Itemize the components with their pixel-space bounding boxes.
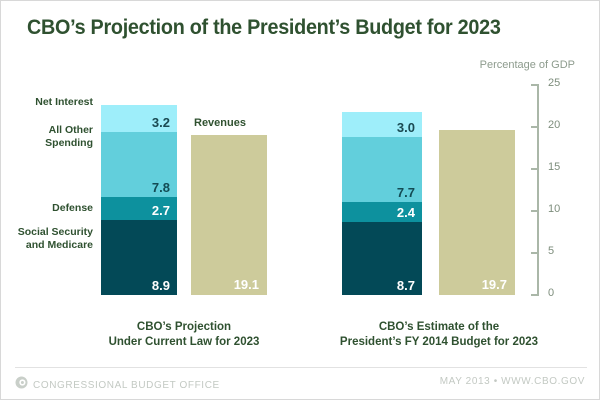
footer-branding: CONGRESSIONAL BUDGET OFFICE <box>15 376 220 394</box>
y-axis-line <box>537 84 539 296</box>
segment-social-security-and-medicare[interactable]: 8.9 <box>101 220 177 295</box>
segment-value-net-interest: 3.0 <box>397 121 415 134</box>
segment-all-other-spending[interactable]: 7.8 <box>101 132 177 197</box>
segment-net-interest[interactable]: 3.0 <box>342 112 422 137</box>
group-caption-presidents-budget: CBO’s Estimate of the President’s FY 201… <box>319 320 559 350</box>
axis-caption: Percentage of GDP <box>480 59 575 71</box>
y-tick-label-5: 5 <box>548 245 554 257</box>
stacked-bar-presidents-budget[interactable]: 3.0 7.7 2.4 8.7 <box>342 112 422 295</box>
y-tick-label-20: 20 <box>548 119 560 131</box>
segment-social-security-and-medicare[interactable]: 8.7 <box>342 222 422 295</box>
footer-organization: CONGRESSIONAL BUDGET OFFICE <box>33 380 220 391</box>
y-tick-label-15: 15 <box>548 161 560 173</box>
revenues-label-left: Revenues <box>194 117 246 129</box>
revenues-bar-current-law[interactable]: 19.1 <box>191 135 267 295</box>
revenues-value-presidents-budget: 19.7 <box>482 278 507 291</box>
page-title: CBO’s Projection of the President’s Budg… <box>27 15 501 40</box>
y-tick-0 <box>531 294 538 296</box>
footer-divider <box>15 367 587 368</box>
segment-net-interest[interactable]: 3.2 <box>101 105 177 132</box>
segment-all-other-spending[interactable]: 7.7 <box>342 137 422 202</box>
y-tick-label-10: 10 <box>548 203 560 215</box>
segment-value-defense: 2.4 <box>397 206 415 219</box>
y-tick-15 <box>531 168 538 170</box>
y-tick-label-25: 25 <box>548 77 560 89</box>
revenues-bar-presidents-budget[interactable]: 19.7 <box>439 130 515 295</box>
segment-value-all-other-spending: 7.8 <box>152 181 170 194</box>
stacked-bar-current-law[interactable]: 3.2 7.8 2.7 8.9 <box>101 105 177 295</box>
y-tick-25 <box>531 84 538 86</box>
revenues-value-current-law: 19.1 <box>234 278 259 291</box>
footer-date-and-site: MAY 2013 • WWW.CBO.GOV <box>440 376 585 387</box>
plot-area: 25 20 15 10 5 0 Net Interest All Other S… <box>1 84 600 316</box>
category-label-social-security-and-medicare: Social Security and Medicare <box>1 226 93 252</box>
y-tick-label-0: 0 <box>548 287 554 299</box>
segment-value-defense: 2.7 <box>152 204 170 217</box>
segment-value-net-interest: 3.2 <box>152 116 170 129</box>
segment-value-social-security-and-medicare: 8.7 <box>397 279 415 292</box>
cbo-seal-icon <box>15 376 28 394</box>
cbo-chart-slide: CBO’s Projection of the President’s Budg… <box>0 0 600 400</box>
y-tick-10 <box>531 210 538 212</box>
category-label-all-other-spending: All Other Spending <box>1 124 93 150</box>
segment-value-all-other-spending: 7.7 <box>397 186 415 199</box>
segment-value-social-security-and-medicare: 8.9 <box>152 279 170 292</box>
category-label-defense: Defense <box>1 202 93 215</box>
y-tick-5 <box>531 252 538 254</box>
y-tick-20 <box>531 126 538 128</box>
footer: CONGRESSIONAL BUDGET OFFICE MAY 2013 • W… <box>1 373 600 397</box>
segment-defense[interactable]: 2.4 <box>342 202 422 222</box>
segment-defense[interactable]: 2.7 <box>101 197 177 220</box>
category-label-net-interest: Net Interest <box>1 96 93 109</box>
group-caption-current-law: CBO’s Projection Under Current Law for 2… <box>79 320 289 350</box>
